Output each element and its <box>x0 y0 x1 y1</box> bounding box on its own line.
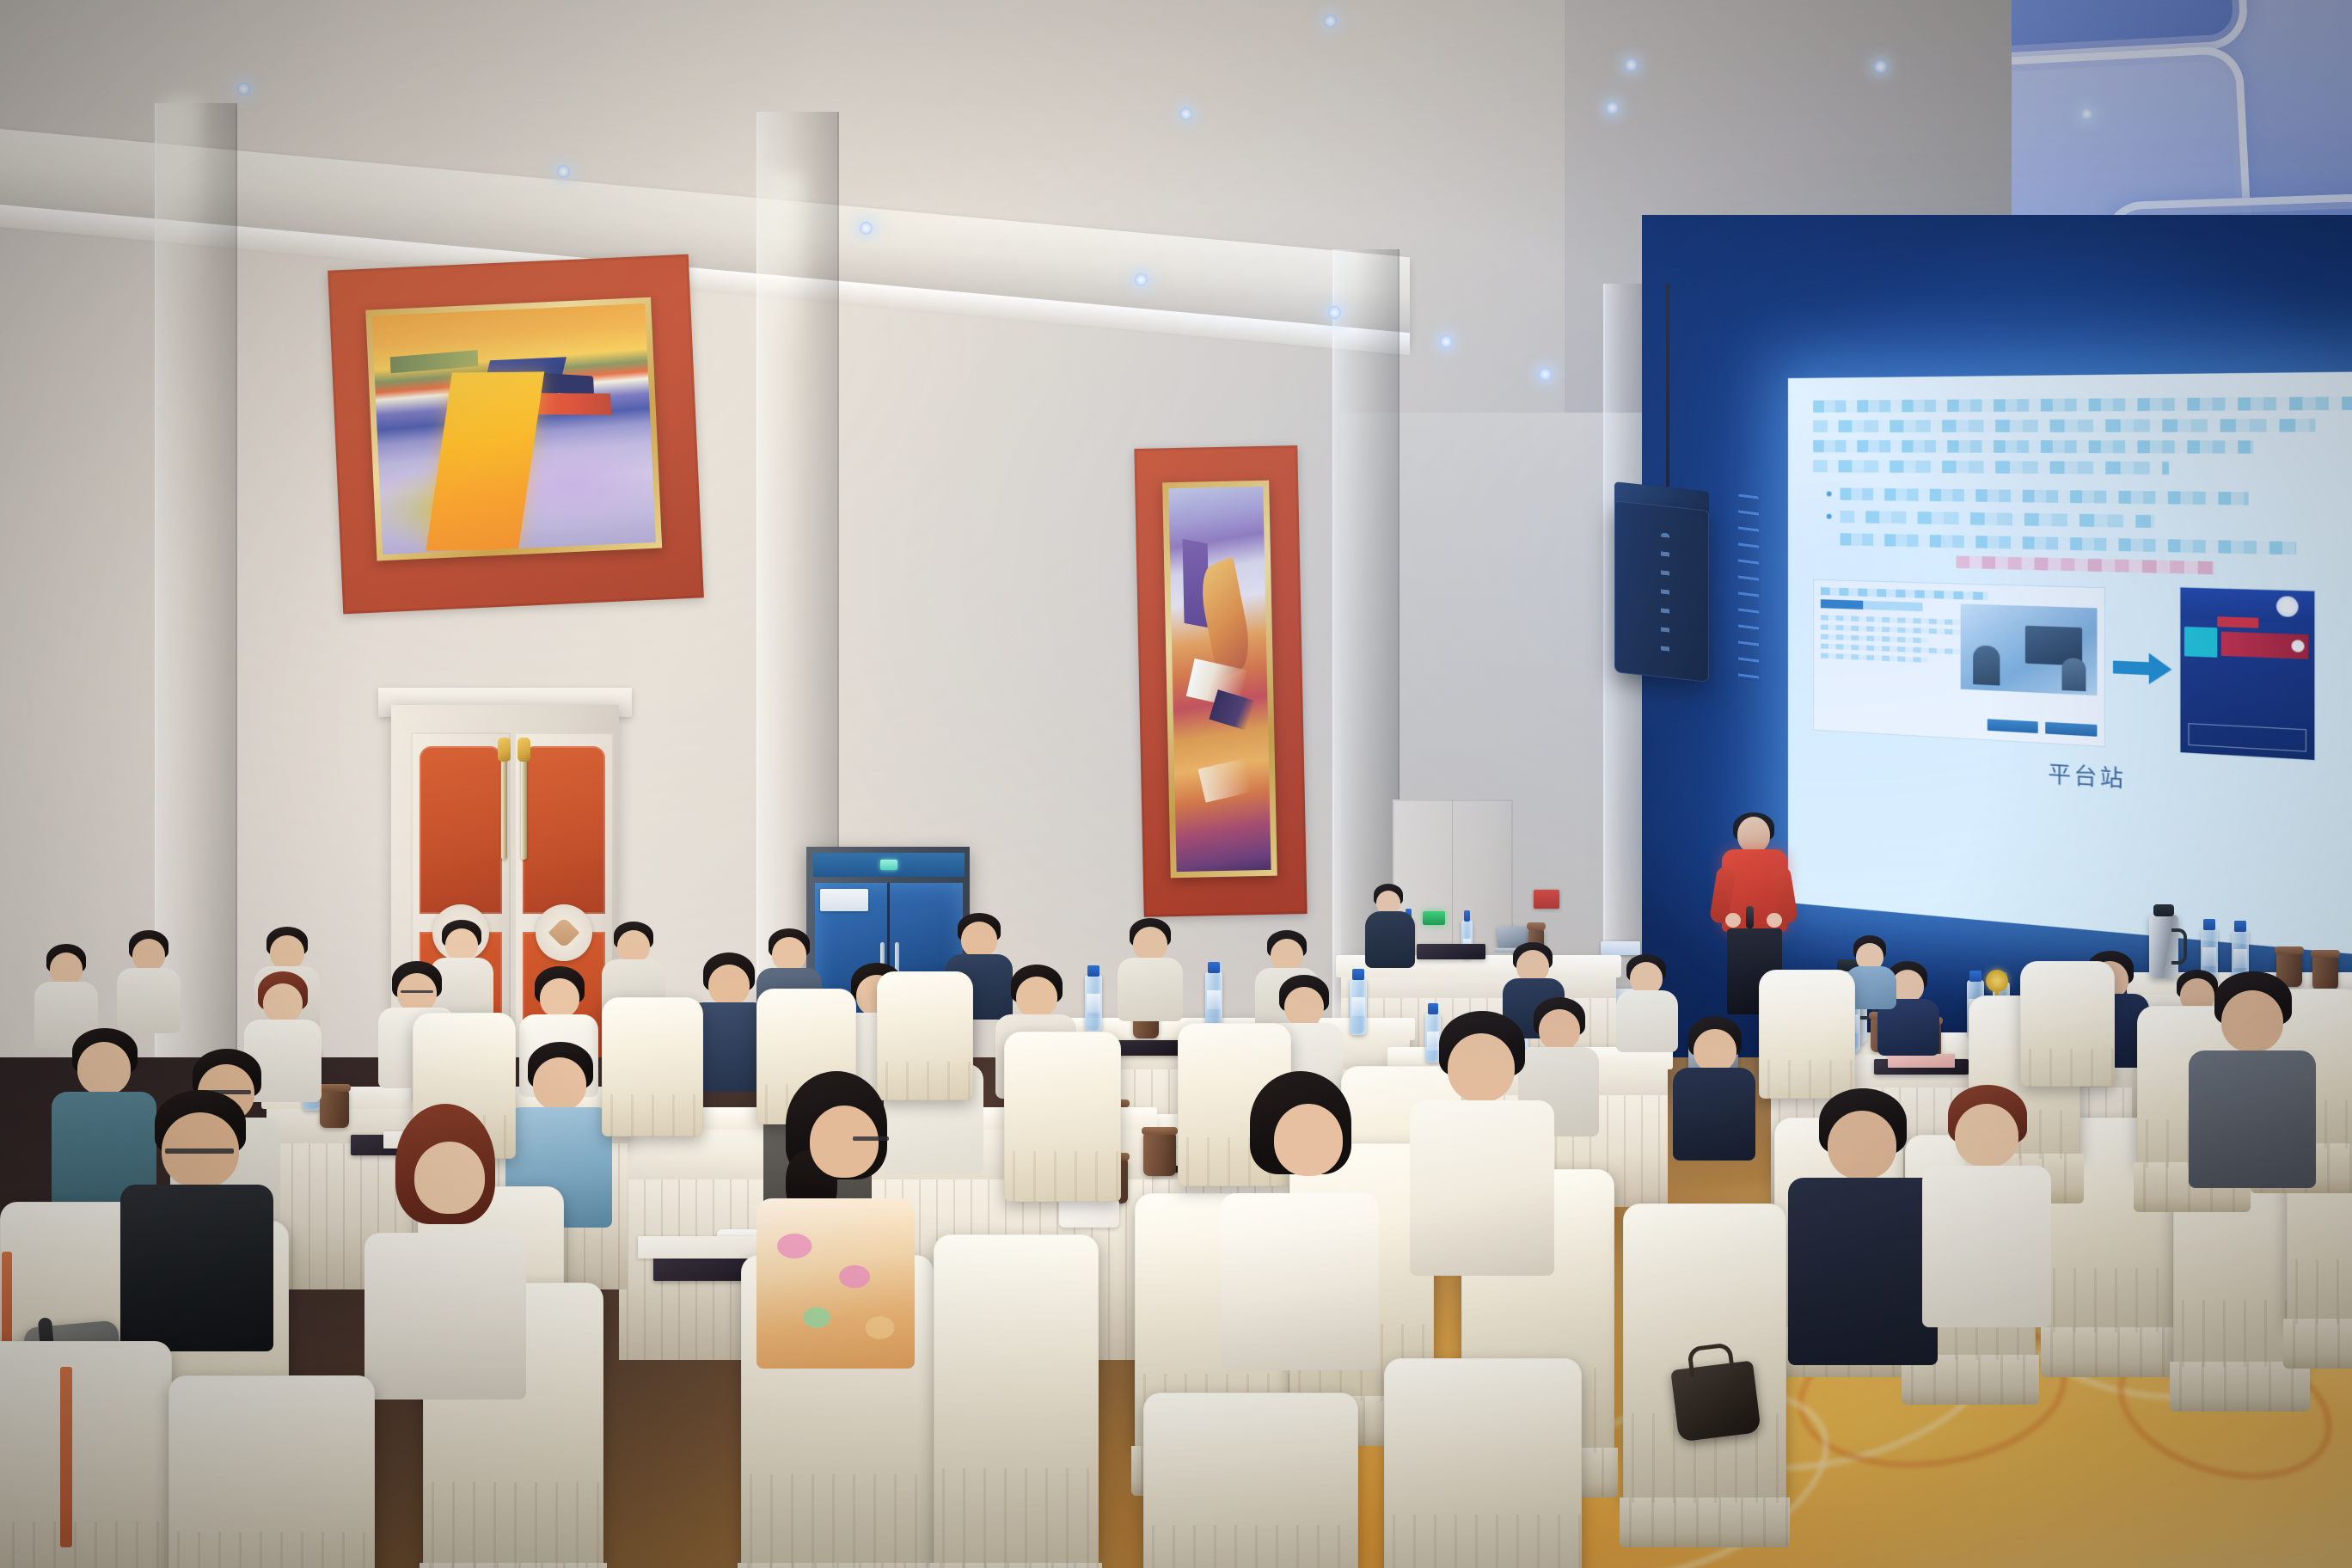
card-button-primary <box>1988 719 2038 733</box>
slide-bullet-item <box>1827 511 2352 532</box>
door-upper-panel <box>523 746 605 914</box>
door-handle[interactable] <box>501 756 507 860</box>
attendee-dark-top <box>1788 1088 1939 1363</box>
banquet-chair[interactable] <box>0 1341 172 1568</box>
slide-title-block <box>1813 396 2352 476</box>
attendee-grey-tee <box>2189 971 2318 1186</box>
banquet-chair[interactable] <box>168 1375 375 1568</box>
presenter-hand-left <box>1725 913 1741 928</box>
banquet-chair[interactable] <box>1143 1393 1358 1568</box>
notepaper <box>1888 1054 1955 1068</box>
attendee-white-blouse <box>1922 1085 2053 1326</box>
slide-screenshot-row <box>1813 577 2352 765</box>
ceiling-downlight <box>2080 107 2093 120</box>
recessed-downlight <box>1328 306 1341 319</box>
wall-light-wash <box>765 172 805 370</box>
banquet-chair[interactable] <box>1759 970 1855 1099</box>
presenter-hand-right <box>1767 913 1782 928</box>
browser-screenshot-card <box>1813 579 2105 746</box>
recessed-downlight <box>237 83 250 95</box>
speaker-suspension-cable <box>1666 284 1669 511</box>
attendee-ponytail <box>756 1071 916 1365</box>
banquet-chair[interactable] <box>934 1234 1099 1568</box>
water-bottle <box>1085 975 1102 1032</box>
door-handle[interactable] <box>521 756 527 860</box>
attendee <box>1673 1016 1757 1159</box>
card-action-buttons <box>1988 719 2098 737</box>
attendee <box>1616 954 1680 1050</box>
slide-bullet-list <box>1827 487 2352 579</box>
ceiling-downlight <box>1179 107 1192 120</box>
tea-cup-with-lid <box>320 1090 349 1128</box>
speaker-driver-array <box>1661 532 1669 662</box>
recessed-downlight <box>860 222 873 235</box>
projection-screen: 平台站 <box>1788 371 2352 960</box>
card-button-secondary <box>2045 721 2097 736</box>
door-medallion <box>536 904 592 961</box>
bullet-dot-icon <box>1827 491 1832 496</box>
water-bottle <box>1350 978 1367 1035</box>
mobile-screenshot-card <box>2179 586 2315 761</box>
recessed-downlight <box>1440 335 1453 348</box>
slide-content: 平台站 <box>1788 371 2352 960</box>
ceiling-downlight <box>1625 58 1638 71</box>
speaker-rigging-rail <box>1738 494 1759 682</box>
bullet-dot-icon <box>1827 514 1832 519</box>
flow-arrow-icon <box>2113 652 2171 685</box>
leather-folder <box>1417 944 1485 959</box>
abstract-vertical-painting <box>1168 487 1271 872</box>
ceiling-downlight <box>1606 101 1619 114</box>
art-accent-panel-vertical <box>1134 445 1307 917</box>
abstract-landscape-painting <box>372 303 656 554</box>
attendee-white-shirt <box>1410 1011 1556 1274</box>
handheld-microphone <box>1746 906 1754 928</box>
recessed-downlight <box>557 165 570 178</box>
wall-light-wash <box>162 96 201 303</box>
recessed-downlight <box>1539 368 1552 381</box>
banquet-chair[interactable] <box>1384 1358 1582 1568</box>
door-upper-panel <box>420 746 502 914</box>
attendee <box>1118 918 1185 1020</box>
attendee <box>1365 884 1417 968</box>
water-bottle <box>1205 971 1222 1028</box>
cooler-brand-bar <box>813 853 965 877</box>
ceiling-downlight <box>1874 60 1887 73</box>
attendee-black-polo <box>120 1090 275 1348</box>
attendee <box>117 930 182 1032</box>
ceiling-downlight <box>1324 15 1337 28</box>
banquet-chair[interactable] <box>602 997 703 1136</box>
attendee-white-top <box>1221 1071 1381 1370</box>
presenter-head <box>1737 817 1770 853</box>
folded-napkin <box>1059 1198 1119 1228</box>
banquet-chair[interactable] <box>2020 961 2115 1087</box>
recessed-downlight <box>1135 273 1148 286</box>
conference-hall-photo: 平台站 <box>0 0 2352 1568</box>
wall-notice-sign <box>1534 890 1559 909</box>
slide-bullet-item <box>1827 487 2352 506</box>
attendee-auburn-hair <box>364 1104 528 1396</box>
banquet-chair[interactable] <box>1004 1032 1121 1202</box>
handbag <box>1670 1360 1761 1442</box>
cooler-label-sticker <box>820 889 868 911</box>
cooler-temp-display <box>880 860 897 870</box>
exit-sign <box>1423 911 1445 925</box>
thermos-carafe <box>2149 915 2178 978</box>
painting-frame <box>365 297 662 561</box>
art-accent-panel-horizontal <box>328 254 704 615</box>
card-photo-thumbnail <box>1961 603 2098 695</box>
painting-frame <box>1162 481 1277 878</box>
tea-cup-with-lid <box>1143 1133 1176 1176</box>
line-array-speaker <box>1599 284 1754 731</box>
